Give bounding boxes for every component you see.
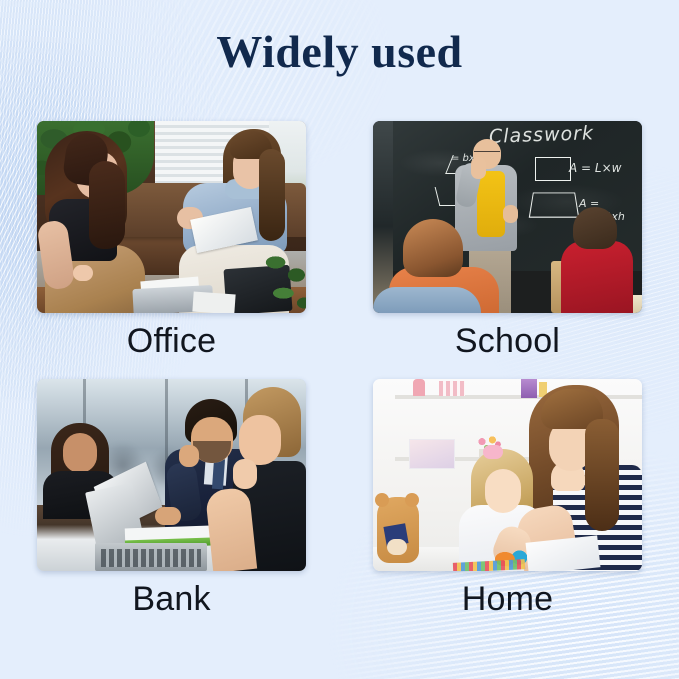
office-photo [37,121,306,313]
usage-card-home: Home [373,379,642,618]
home-teddy-bear-muzzle [387,539,407,555]
page-title: Widely used [0,26,679,79]
usage-card-bank: Bank [37,379,306,618]
home-book-pink [413,379,425,396]
school-teacher-shirt [477,171,505,237]
usage-grid: Office Classwork = bxh / 2 A = L×w A = (… [37,121,642,618]
bank-photo [37,379,306,571]
bank-woman-right-arm [205,487,257,571]
usage-grid-row-2: Bank [37,379,642,618]
home-wall-art [409,439,455,469]
office-woman-left-hair-side [89,161,125,249]
school-student-foreground [373,287,481,313]
school-chalk-formula-2: A = L×w [569,161,621,175]
school-chalk-rectangle [535,157,571,181]
poster-root: Widely used [0,0,679,679]
office-plant-right [260,247,306,313]
school-chalk-trapezoid [529,193,580,218]
school-photo: Classwork = bxh / 2 A = L×w A = (B+b)xh [373,121,642,313]
usage-card-school: Classwork = bxh / 2 A = L×w A = (B+b)xh [373,121,642,360]
bank-laptop-keyboard [101,549,201,567]
school-student-red-hoodie [561,241,633,313]
bank-woman-right-hand [233,459,257,489]
usage-label-bank: Bank [37,580,306,618]
usage-label-school: School [373,322,642,360]
bank-man-tie [212,459,225,490]
bank-woman-right-face [239,415,281,465]
office-paper-secondary [192,292,235,313]
school-chalk-heading: Classwork [489,122,595,148]
usage-label-home: Home [373,580,642,618]
usage-grid-row-1: Office Classwork = bxh / 2 A = L×w A = (… [37,121,642,360]
school-teacher-hand-lower [503,205,518,223]
home-teddy-bear-ear-right [405,493,419,507]
home-mother-hair-side [585,419,619,531]
office-woman-right-hair-side [259,149,285,241]
home-photo [373,379,642,571]
usage-label-office: Office [37,322,306,360]
usage-card-office: Office [37,121,306,360]
home-teddy-bear-ear-left [375,493,389,507]
home-girl-hair-bow [483,445,503,459]
school-student-red-head [573,207,617,249]
office-woman-left-hand [73,265,93,281]
home-book-striped [439,381,465,396]
home-girl-face [485,469,521,513]
home-book-purple [521,379,537,398]
home-paper [526,535,601,571]
bank-woman-left-face [63,433,97,473]
bank-man-hand-to-chin [179,445,199,467]
bank-man-hand-lower [155,507,181,525]
school-student-orange-head [403,219,463,277]
school-teacher-hand-raised [471,157,486,179]
